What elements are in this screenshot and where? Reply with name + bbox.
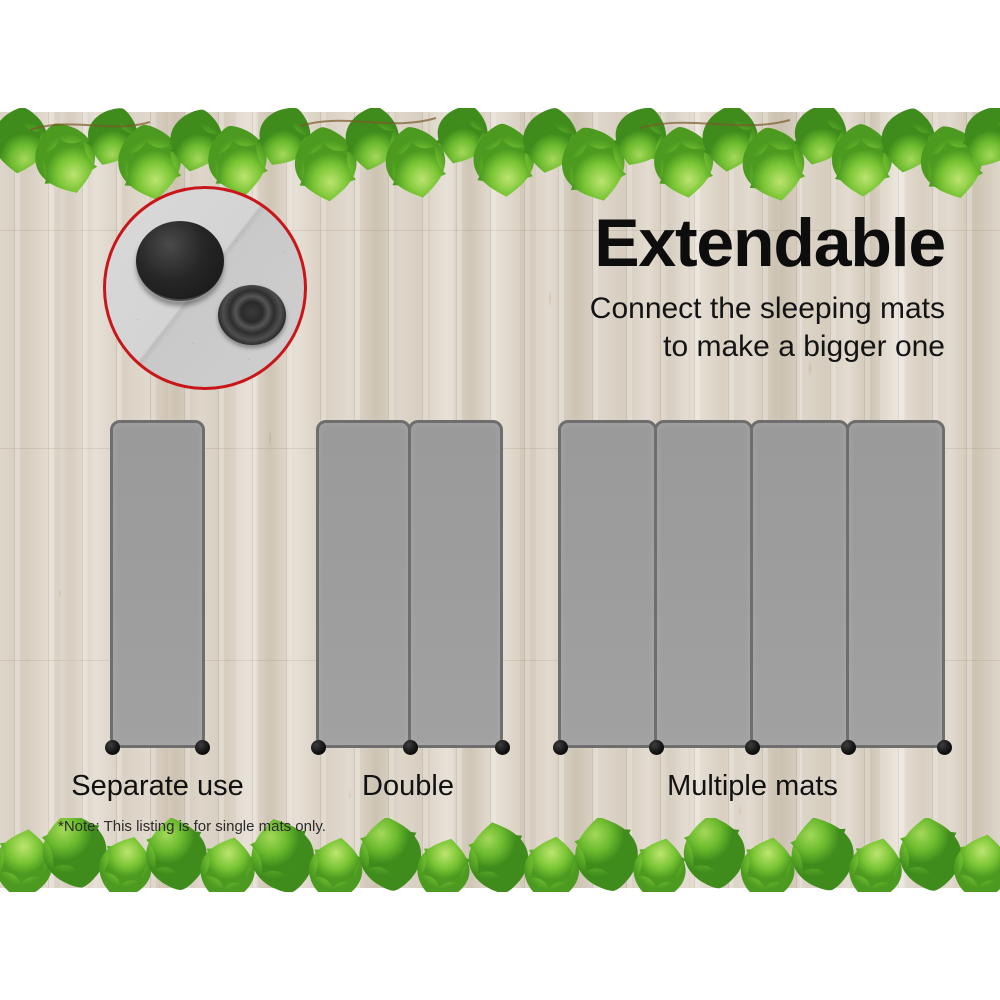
subtitle-line-1: Connect the sleeping mats bbox=[525, 290, 945, 328]
diagram-double bbox=[316, 420, 503, 748]
snap-dot bbox=[105, 740, 120, 755]
snap-dot bbox=[553, 740, 568, 755]
snap-socket-icon bbox=[218, 285, 286, 345]
mat bbox=[110, 420, 205, 748]
snap-dot bbox=[403, 740, 418, 755]
mat bbox=[846, 420, 945, 748]
snap-dot bbox=[311, 740, 326, 755]
snap-stud-icon bbox=[136, 221, 224, 301]
snap-dot bbox=[495, 740, 510, 755]
mat bbox=[408, 420, 503, 748]
mat bbox=[654, 420, 753, 748]
diagram-multiple-mats bbox=[558, 420, 945, 748]
snap-fastener-closeup bbox=[103, 186, 307, 390]
snap-dot bbox=[937, 740, 952, 755]
mat bbox=[750, 420, 849, 748]
mat bbox=[558, 420, 657, 748]
subtitle-line-2: to make a bigger one bbox=[525, 328, 945, 366]
headline-block: Extendable Connect the sleeping mats to … bbox=[525, 205, 945, 366]
product-infographic: Extendable Connect the sleeping mats to … bbox=[0, 0, 1000, 1000]
caption-double: Double bbox=[313, 770, 503, 803]
caption-multiple-mats: Multiple mats bbox=[655, 770, 850, 803]
diagram-separate-use bbox=[110, 420, 205, 748]
mat bbox=[316, 420, 411, 748]
snap-dot bbox=[649, 740, 664, 755]
footnote-note: *Note: This listing is for single mats o… bbox=[58, 818, 326, 835]
caption-separate-use: Separate use bbox=[60, 770, 255, 803]
page-title: Extendable bbox=[525, 205, 945, 281]
snap-dot bbox=[841, 740, 856, 755]
snap-dot bbox=[195, 740, 210, 755]
snap-dot bbox=[745, 740, 760, 755]
